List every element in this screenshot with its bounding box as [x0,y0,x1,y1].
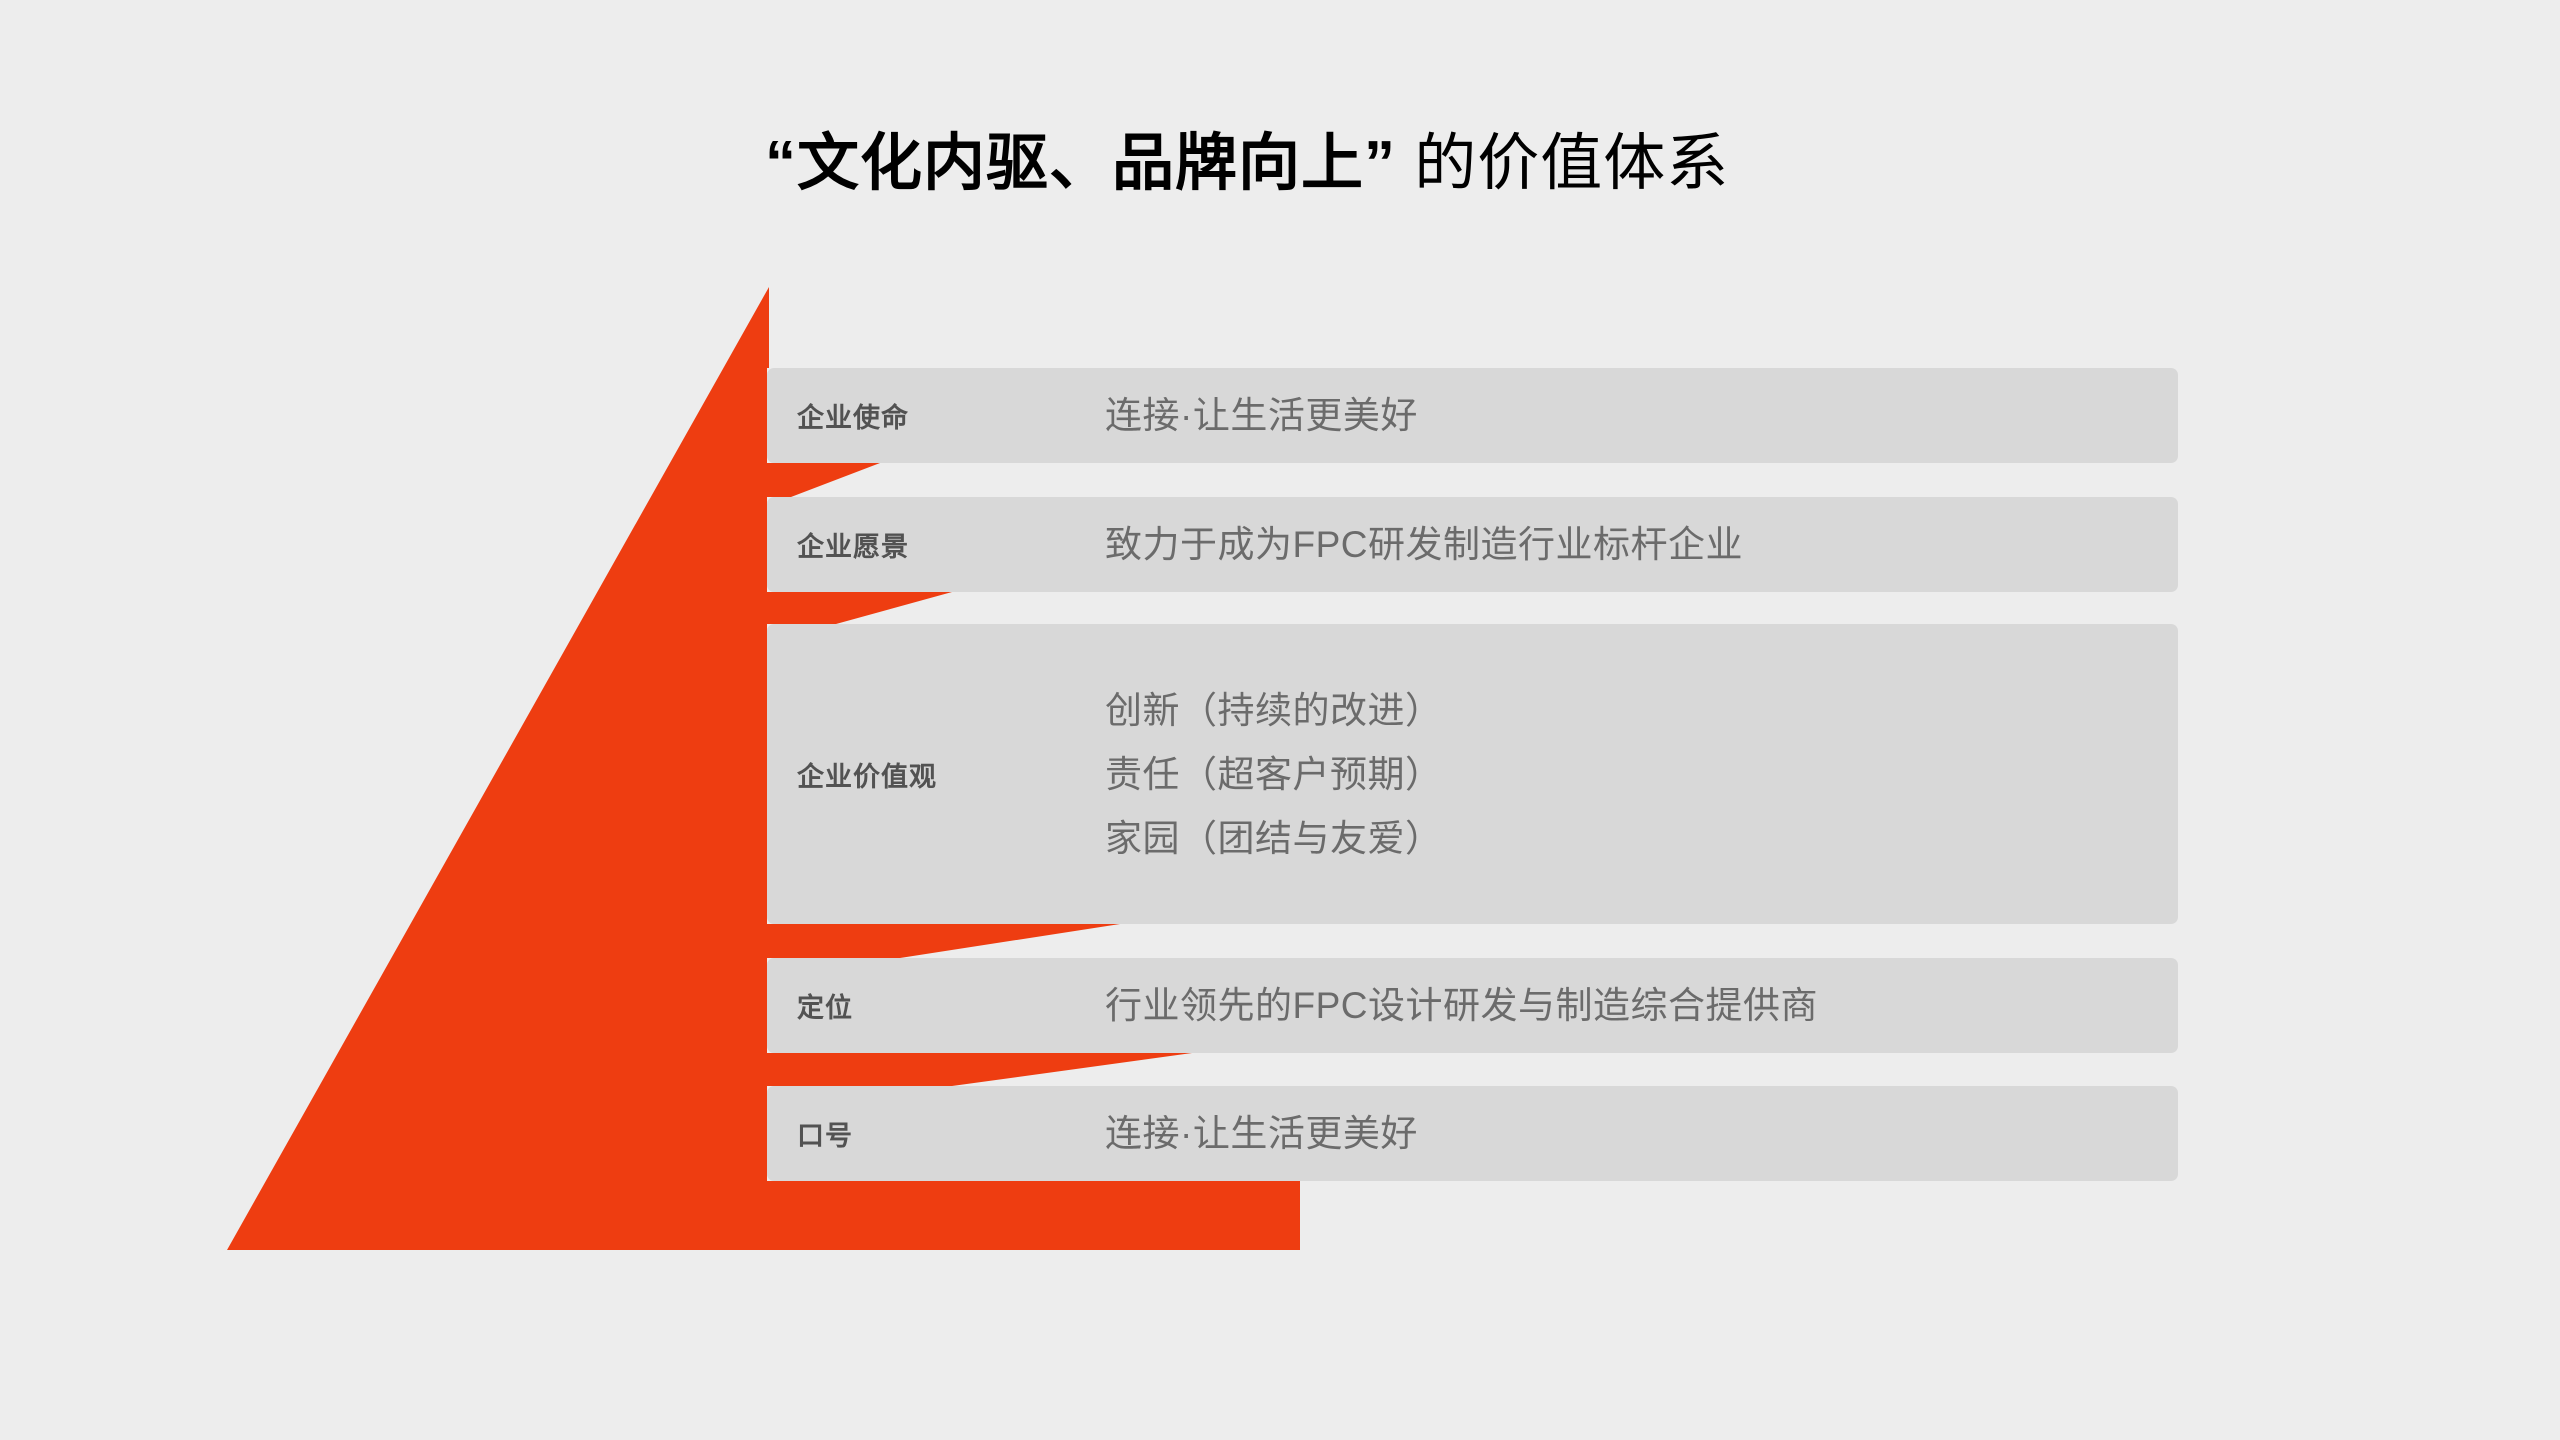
row-label: 企业愿景 [767,525,1067,564]
row-value: 连接·让生活更美好 [1067,397,2178,434]
page-title-accent: “文化内驱、品牌向上” [765,129,1396,198]
row-label: 口号 [767,1114,1067,1153]
page-title: “文化内驱、品牌向上” 的价值体系 [765,128,1729,199]
slide-canvas: “文化内驱、品牌向上” 的价值体系 企业使命 连接·让生活更美好 企业愿景 致力… [0,0,2560,1440]
row-value: 连接·让生活更美好 [1067,1115,2178,1152]
row-value-line: 连接·让生活更美好 [1105,397,2178,434]
row-value-line: 责任（超客户预期） [1105,756,2178,793]
row-card-kouhao[interactable]: 口号 连接·让生活更美好 [767,1086,2178,1181]
row-card-qiyejiazhiguan[interactable]: 企业价值观 创新（持续的改进） 责任（超客户预期） 家园（团结与友爱） [767,624,2178,924]
row-card-qiyeyuanjing[interactable]: 企业愿景 致力于成为FPC研发制造行业标杆企业 [767,497,2178,592]
row-value-line: 家园（团结与友爱） [1105,820,2178,857]
row-value-line: 创新（持续的改进） [1105,692,2178,729]
row-card-qiyeshiming[interactable]: 企业使命 连接·让生活更美好 [767,368,2178,463]
row-value-line: 连接·让生活更美好 [1105,1115,2178,1152]
row-value: 行业领先的FPC设计研发与制造综合提供商 [1067,987,2178,1024]
row-value-line: 行业领先的FPC设计研发与制造综合提供商 [1105,987,2178,1024]
row-value: 创新（持续的改进） 责任（超客户预期） 家园（团结与友爱） [1067,692,2178,857]
row-label: 企业使命 [767,396,1067,435]
row-card-dingwei[interactable]: 定位 行业领先的FPC设计研发与制造综合提供商 [767,958,2178,1053]
page-title-plain: 的价值体系 [1396,129,1729,198]
row-label: 企业价值观 [767,755,1067,794]
row-value-line: 致力于成为FPC研发制造行业标杆企业 [1105,526,2178,563]
row-label: 定位 [767,986,1067,1025]
row-value: 致力于成为FPC研发制造行业标杆企业 [1067,526,2178,563]
